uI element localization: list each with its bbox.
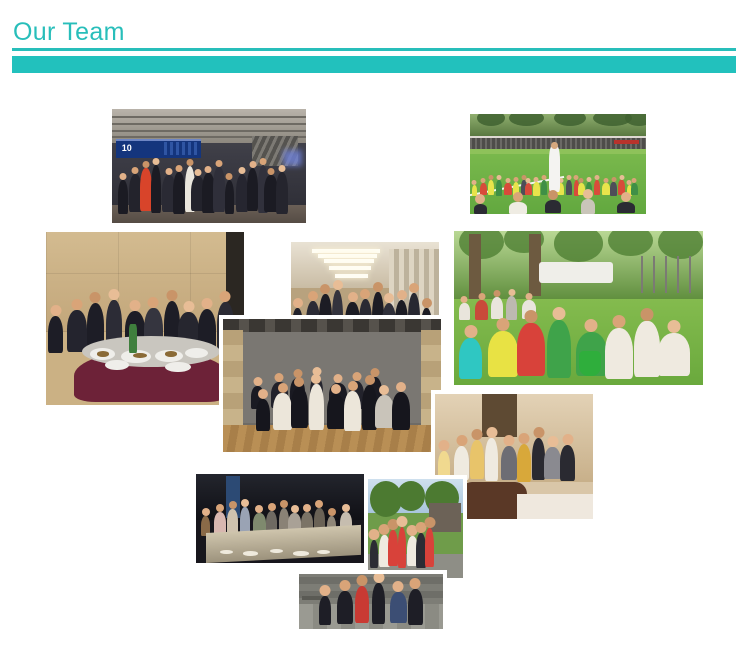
photo-banquet-table: [42, 228, 248, 409]
photo-scene: [454, 231, 703, 385]
photo-frame: [299, 574, 443, 629]
page-title: Our Team: [13, 17, 125, 47]
photo-frame: [470, 114, 646, 214]
photo-scene: [470, 114, 646, 214]
photo-scene: 10: [112, 109, 306, 223]
photo-park-outing: [450, 227, 707, 389]
photo-frame: [196, 474, 364, 563]
photo-frame: [454, 231, 703, 385]
photo-train-station: 10: [108, 105, 310, 227]
photo-long-table-dinner: [192, 470, 368, 567]
photo-formal-stage: [219, 315, 445, 456]
title-rule-thin: [12, 48, 736, 51]
photo-frame: 10: [112, 109, 306, 223]
photo-street-group: [295, 570, 447, 633]
photo-frame: [223, 319, 441, 452]
photo-scene: [196, 474, 364, 563]
photo-sports-field: [466, 110, 650, 218]
photo-scene: [223, 319, 441, 452]
photo-scene: [368, 479, 463, 578]
photo-frame: [46, 232, 244, 405]
photo-scene: [46, 232, 244, 405]
photo-collage: 10: [0, 85, 750, 671]
photo-frame: [368, 479, 463, 578]
title-rule-thick: [12, 56, 736, 73]
photo-scene: [299, 574, 443, 629]
photo-outdoor-greenery: [364, 475, 467, 582]
header-section: Our Team: [0, 0, 750, 85]
